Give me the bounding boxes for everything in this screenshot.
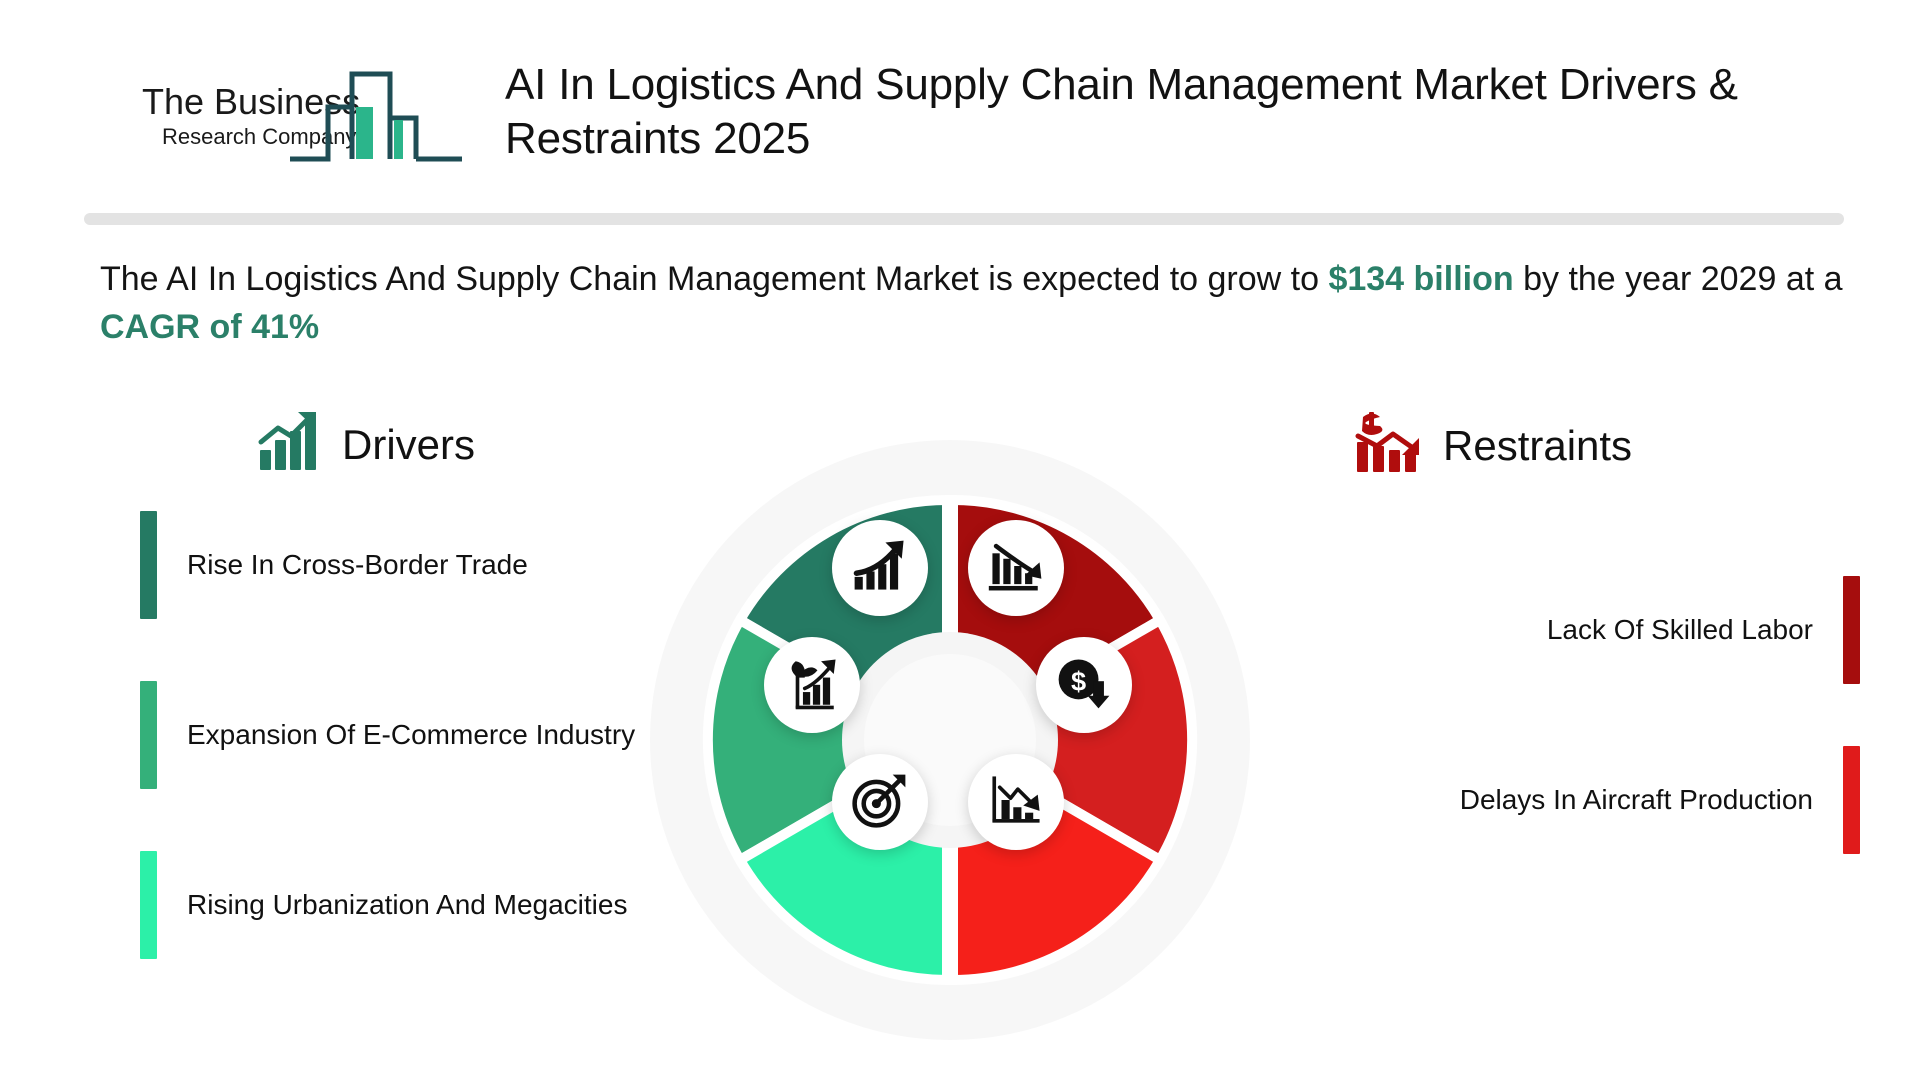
target-arrow-icon (851, 771, 909, 834)
driver-label-2: Expansion Of E-Commerce Industry (187, 719, 635, 751)
restraints-list: Lack Of Skilled Labor Delays In Aircraft… (1220, 575, 1860, 855)
drivers-restraints-wheel: $ (650, 440, 1270, 1060)
summary-text-part1: The AI In Logistics And Supply Chain Man… (100, 260, 1328, 298)
growth-chart-icon (258, 410, 324, 479)
wheel-badge-dollar-down: $ (1036, 637, 1132, 733)
driver-accent-bar-2 (140, 681, 157, 789)
wheel-badge-target (832, 754, 928, 850)
drivers-title: Drivers (342, 421, 475, 469)
svg-text:$: $ (1071, 665, 1086, 696)
cagr-value: 41% (251, 308, 319, 346)
company-logo: The Business Research Company (140, 62, 470, 172)
driver-accent-bar-1 (140, 511, 157, 619)
restraints-title: Restraints (1443, 422, 1632, 470)
declining-chart-dollar-icon (1355, 410, 1425, 481)
driver-label-3: Rising Urbanization And Megacities (187, 889, 627, 921)
restraints-heading: Restraints (1355, 410, 1632, 481)
cagr-label: CAGR of (100, 308, 251, 346)
market-value: $134 billion (1328, 260, 1513, 298)
driver-label-1: Rise In Cross-Border Trade (187, 549, 528, 581)
wheel-donut-chart (650, 440, 1250, 1040)
infographic-page: The Business Research Company AI In Logi… (0, 0, 1920, 1080)
header: The Business Research Company AI In Logi… (0, 0, 1920, 210)
restraint-label-1: Lack Of Skilled Labor (1547, 614, 1813, 646)
wheel-badge-decline-line (968, 754, 1064, 850)
wheel-badge-growth (832, 520, 928, 616)
wheel-badge-plant-growth (764, 637, 860, 733)
page-title: AI In Logistics And Supply Chain Managem… (505, 58, 1875, 165)
declining-bar-arrow-down-icon (987, 537, 1045, 600)
declining-line-bar-icon (987, 771, 1045, 834)
restraint-item-1: Lack Of Skilled Labor (1220, 575, 1860, 685)
dollar-arrow-down-icon: $ (1055, 654, 1113, 717)
restraint-accent-bar-1 (1843, 576, 1860, 684)
restraint-item-2: Delays In Aircraft Production (1220, 745, 1860, 855)
drivers-heading: Drivers (258, 410, 475, 479)
wheel-badge-decline (968, 520, 1064, 616)
driver-accent-bar-3 (140, 851, 157, 959)
summary-text-part2: by the year 2029 at a (1514, 260, 1843, 298)
restraint-label-2: Delays In Aircraft Production (1460, 784, 1813, 816)
header-divider (84, 213, 1844, 225)
restraint-accent-bar-2 (1843, 746, 1860, 854)
market-summary: The AI In Logistics And Supply Chain Man… (100, 255, 1860, 352)
growth-bar-arrow-up-icon (851, 537, 909, 600)
plant-growth-bar-icon (783, 654, 841, 717)
